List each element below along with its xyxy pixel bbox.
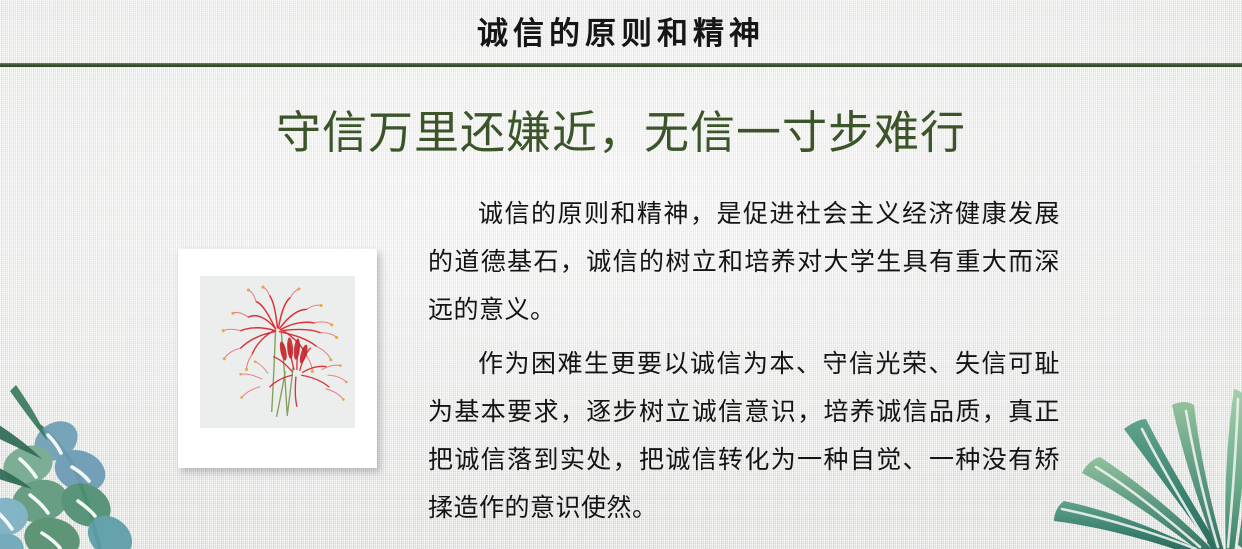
eucalyptus-leaves-icon <box>0 289 182 549</box>
slide-canvas: 诚信的原则和精神 守信万里还嫌近，无信一寸步难行 <box>0 0 1242 549</box>
body-paragraph-1: 诚信的原则和精神，是促进社会主义经济健康发展的道德基石，诚信的树立和培养对大学生… <box>428 190 1060 334</box>
framed-photo <box>178 249 377 468</box>
body-text-block: 诚信的原则和精神，是促进社会主义经济健康发展的道德基石，诚信的树立和培养对大学生… <box>428 190 1060 532</box>
main-heading: 守信万里还嫌近，无信一寸步难行 <box>0 96 1242 161</box>
photo-image-red-spider-lily <box>200 276 355 428</box>
body-paragraph-2: 作为困难生更要以诚信为本、守信光荣、失信可耻为基本要求，逐步树立诚信意识，培养诚… <box>428 340 1060 532</box>
header-divider-rule <box>0 63 1242 67</box>
page-title: 诚信的原则和精神 <box>0 8 1242 53</box>
